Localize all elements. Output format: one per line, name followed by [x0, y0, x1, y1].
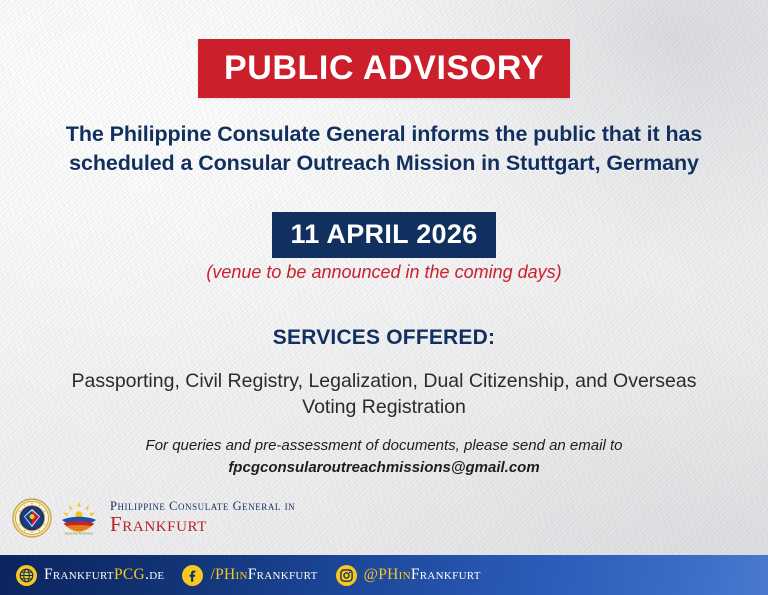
website-label-part-3: .de — [145, 566, 164, 583]
svg-text:BAGONG PILIPINAS: BAGONG PILIPINAS — [65, 531, 94, 535]
footer-item-website[interactable]: FrankfurtPCG.de — [16, 565, 164, 586]
website-label-part-1: Frankfurt — [44, 566, 114, 583]
instagram-icon — [336, 565, 357, 586]
website-label: FrankfurtPCG.de — [44, 566, 164, 584]
social-footer-bar: FrankfurtPCG.de /PHinFrankfurt — [0, 555, 768, 595]
instagram-label: @PHinFrankfurt — [364, 566, 481, 584]
facebook-label-part-1: /PHin — [210, 566, 247, 583]
queries-instruction: For queries and pre-assessment of docume… — [146, 437, 623, 454]
public-advisory-poster: PUBLIC ADVISORY The Philippine Consulate… — [0, 0, 768, 595]
instagram-label-part-2: Frankfurt — [411, 566, 481, 583]
banner-container: PUBLIC ADVISORY — [0, 39, 768, 98]
facebook-label: /PHinFrankfurt — [210, 566, 317, 584]
venue-note: (venue to be announced in the coming day… — [0, 262, 768, 283]
logo-text-block: Philippine Consulate General in Frankfur… — [110, 500, 295, 536]
instagram-label-part-1: @PHin — [364, 566, 411, 583]
website-label-part-2: PCG — [114, 566, 145, 583]
services-offered-list: Passporting, Civil Registry, Legalizatio… — [64, 369, 704, 420]
philippine-consulate-seal-icon — [12, 498, 52, 538]
date-container: 11 APRIL 2026 — [0, 212, 768, 258]
contact-email[interactable]: fpcgconsularoutreachmissions@gmail.com — [228, 459, 539, 476]
advisory-headline: The Philippine Consulate General informs… — [44, 120, 724, 177]
consulate-logo-lockup: BAGONG PILIPINAS Philippine Consulate Ge… — [12, 498, 295, 538]
logo-line-city: Frankfurt — [110, 514, 295, 535]
facebook-icon — [182, 565, 203, 586]
public-advisory-banner: PUBLIC ADVISORY — [198, 39, 570, 98]
services-offered-title: SERVICES OFFERED: — [0, 326, 768, 350]
queries-block: For queries and pre-assessment of docume… — [64, 435, 704, 479]
facebook-label-part-2: Frankfurt — [248, 566, 318, 583]
footer-item-facebook[interactable]: /PHinFrankfurt — [182, 565, 317, 586]
philippine-sun-logo-icon: BAGONG PILIPINAS — [59, 498, 99, 538]
globe-icon — [16, 565, 37, 586]
footer-item-instagram[interactable]: @PHinFrankfurt — [336, 565, 481, 586]
mission-date-badge: 11 APRIL 2026 — [272, 212, 495, 258]
